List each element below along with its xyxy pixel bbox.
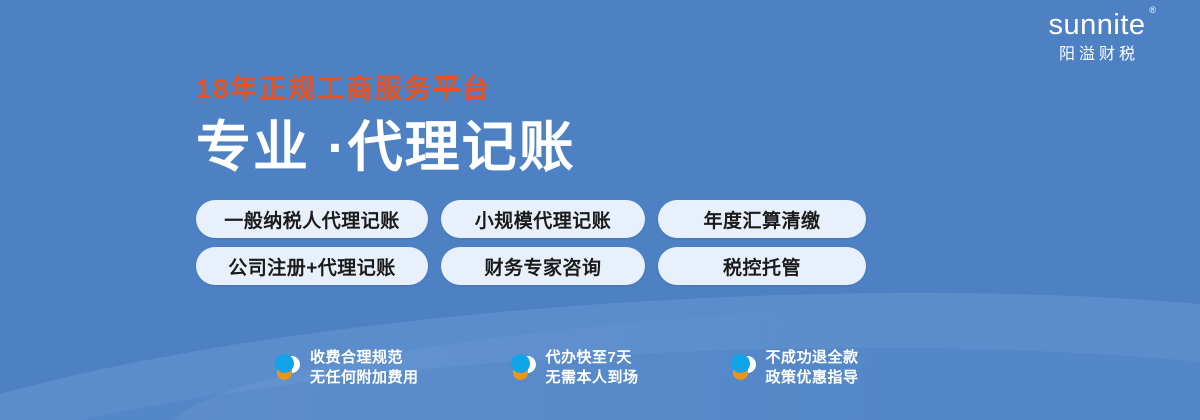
service-pill-annual-settlement[interactable]: 年度汇算清缴 bbox=[658, 200, 866, 238]
circle-drop-icon-dot bbox=[275, 354, 294, 373]
headline-block: 18年正规工商服务平台 专业 ·代理记账 bbox=[196, 74, 956, 178]
circle-drop-icon bbox=[274, 352, 300, 384]
service-pill-small-scale[interactable]: 小规模代理记账 bbox=[441, 200, 645, 238]
promo-banner: sunnite ® 阳溢财税 18年正规工商服务平台 专业 ·代理记账 一般纳税… bbox=[0, 0, 1200, 420]
feature-line-1: 收费合理规范 bbox=[310, 348, 419, 368]
service-pill-tax-control-hosting[interactable]: 税控托管 bbox=[658, 247, 866, 285]
banner-tagline: 18年正规工商服务平台 bbox=[196, 74, 956, 104]
feature-item-speed: 代办快至7天 无需本人到场 bbox=[510, 348, 639, 388]
service-pill-group: 一般纳税人代理记账 小规模代理记账 年度汇算清缴 公司注册+代理记账 财务专家咨… bbox=[196, 200, 916, 294]
circle-drop-icon-dot bbox=[511, 354, 530, 373]
circle-drop-icon bbox=[510, 352, 536, 384]
circle-drop-icon bbox=[730, 352, 756, 384]
feature-line-1: 代办快至7天 bbox=[546, 348, 639, 368]
feature-list: 收费合理规范 无任何附加费用 代办快至7天 无需本人到场 不成功退全款 bbox=[274, 348, 859, 388]
service-pill-row-2: 公司注册+代理记账 财务专家咨询 税控托管 bbox=[196, 247, 916, 285]
feature-line-1: 不成功退全款 bbox=[766, 348, 859, 368]
service-pill-expert-consulting[interactable]: 财务专家咨询 bbox=[441, 247, 645, 285]
feature-line-2: 无任何附加费用 bbox=[310, 368, 419, 388]
feature-text-pricing: 收费合理规范 无任何附加费用 bbox=[310, 348, 419, 388]
feature-item-refund: 不成功退全款 政策优惠指导 bbox=[730, 348, 859, 388]
service-pill-row-1: 一般纳税人代理记账 小规模代理记账 年度汇算清缴 bbox=[196, 200, 916, 238]
feature-line-2: 无需本人到场 bbox=[546, 368, 639, 388]
service-pill-general-taxpayer[interactable]: 一般纳税人代理记账 bbox=[196, 200, 428, 238]
brand-logo[interactable]: sunnite ® 阳溢财税 bbox=[1012, 8, 1182, 65]
feature-text-refund: 不成功退全款 政策优惠指导 bbox=[766, 348, 859, 388]
logo-wordmark: sunnite ® bbox=[1048, 8, 1145, 42]
feature-item-pricing: 收费合理规范 无任何附加费用 bbox=[274, 348, 419, 388]
logo-chinese-name: 阳溢财税 bbox=[1012, 45, 1182, 65]
circle-drop-icon-dot bbox=[731, 354, 750, 373]
feature-line-2: 政策优惠指导 bbox=[766, 368, 859, 388]
registered-trademark-icon: ® bbox=[1149, 6, 1156, 15]
logo-wordmark-text: sunnite bbox=[1048, 9, 1145, 41]
service-pill-company-registration[interactable]: 公司注册+代理记账 bbox=[196, 247, 428, 285]
page-title: 专业 ·代理记账 bbox=[196, 116, 956, 178]
feature-text-speed: 代办快至7天 无需本人到场 bbox=[546, 348, 639, 388]
